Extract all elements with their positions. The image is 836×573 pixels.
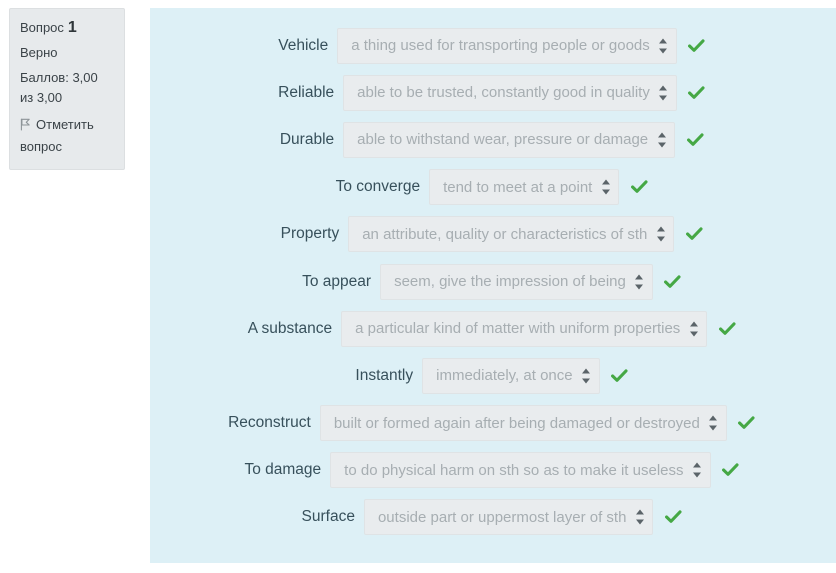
answer-select[interactable]: a particular kind of matter with uniform… <box>341 311 707 347</box>
question-marks: Баллов: 3,00 из 3,00 <box>20 68 114 108</box>
check-icon <box>716 322 738 336</box>
chevron-updown-icon <box>693 463 702 478</box>
answer-select-value: an attribute, quality or characteristics… <box>362 226 647 243</box>
check-icon <box>684 133 706 147</box>
flag-question-link[interactable]: Отметить вопрос <box>20 115 114 157</box>
answer-select-value: seem, give the impression of being <box>394 273 626 290</box>
question-number: 1 <box>68 19 77 36</box>
answer-row: Reliable able to be trusted, constantly … <box>150 69 836 116</box>
check-icon <box>628 180 650 194</box>
answer-select[interactable]: to do physical harm on sth so as to make… <box>330 452 710 488</box>
check-icon <box>662 275 684 289</box>
check-icon <box>662 510 684 524</box>
answer-select-value: built or formed again after being damage… <box>334 415 700 432</box>
answer-row: To converge tend to meet at a point <box>150 164 836 211</box>
term-label: To appear <box>302 273 380 291</box>
check-icon <box>683 227 705 241</box>
answer-select-value: tend to meet at a point <box>443 179 592 196</box>
answer-select-value: able to withstand wear, pressure or dama… <box>357 131 648 148</box>
answer-row: To appear seem, give the impression of b… <box>150 258 836 305</box>
answer-select[interactable]: built or formed again after being damage… <box>320 405 727 441</box>
chevron-updown-icon <box>601 180 610 195</box>
chevron-updown-icon <box>657 132 666 147</box>
chevron-updown-icon <box>635 510 644 525</box>
check-icon <box>686 39 708 53</box>
check-icon <box>609 369 631 383</box>
chevron-updown-icon <box>635 274 644 289</box>
answer-select[interactable]: seem, give the impression of being <box>380 264 653 300</box>
term-label: Reliable <box>278 84 343 102</box>
chevron-updown-icon <box>656 227 665 242</box>
term-label: Durable <box>280 131 343 149</box>
answer-select-value: a thing used for transporting people or … <box>351 37 650 54</box>
flag-icon <box>20 117 31 137</box>
answer-row: Reconstruct built or formed again after … <box>150 400 836 447</box>
answer-row: Instantly immediately, at once <box>150 352 836 399</box>
chevron-updown-icon <box>659 85 668 100</box>
check-icon <box>686 86 708 100</box>
answer-select[interactable]: tend to meet at a point <box>429 169 619 205</box>
answer-row: Property an attribute, quality or charac… <box>150 211 836 258</box>
question-label: Вопрос <box>20 20 64 35</box>
question-heading: Вопрос1 <box>20 18 114 38</box>
answer-select[interactable]: an attribute, quality or characteristics… <box>348 216 674 252</box>
answer-select-value: a particular kind of matter with uniform… <box>355 320 680 337</box>
term-label: To damage <box>244 461 330 479</box>
answer-row: Surface outside part or uppermost layer … <box>150 494 836 541</box>
answer-select[interactable]: immediately, at once <box>422 358 599 394</box>
answer-select[interactable]: able to be trusted, constantly good in q… <box>343 75 677 111</box>
chevron-updown-icon <box>659 38 668 53</box>
question-state: Верно <box>20 43 114 63</box>
answer-row: Vehicle a thing used for transporting pe… <box>150 22 836 69</box>
check-icon <box>736 416 758 430</box>
answer-select-value: able to be trusted, constantly good in q… <box>357 84 650 101</box>
term-label: Vehicle <box>278 37 337 55</box>
term-label: Surface <box>302 508 364 526</box>
answer-select[interactable]: able to withstand wear, pressure or dama… <box>343 122 675 158</box>
term-label: Instantly <box>355 367 422 385</box>
answer-select[interactable]: a thing used for transporting people or … <box>337 28 677 64</box>
answer-row: Durable able to withstand wear, pressure… <box>150 116 836 163</box>
answer-select-value: outside part or uppermost layer of sth <box>378 509 626 526</box>
chevron-updown-icon <box>709 416 718 431</box>
term-label: Property <box>281 225 349 243</box>
answer-select-value: immediately, at once <box>436 367 572 384</box>
term-label: Reconstruct <box>228 414 320 432</box>
chevron-updown-icon <box>689 321 698 336</box>
answer-rows: Vehicle a thing used for transporting pe… <box>150 22 836 541</box>
answer-select[interactable]: outside part or uppermost layer of sth <box>364 499 653 535</box>
answer-select-value: to do physical harm on sth so as to make… <box>344 462 683 479</box>
question-info-box: Вопрос1 Верно Баллов: 3,00 из 3,00 Отмет… <box>9 8 125 170</box>
term-label: A substance <box>248 320 341 338</box>
answer-row: To damage to do physical harm on sth so … <box>150 447 836 494</box>
flag-question-label: Отметить вопрос <box>20 117 94 154</box>
answer-row: A substance a particular kind of matter … <box>150 305 836 352</box>
answers-panel: Vehicle a thing used for transporting pe… <box>150 8 836 563</box>
chevron-updown-icon <box>582 368 591 383</box>
check-icon <box>720 463 742 477</box>
term-label: To converge <box>336 178 429 196</box>
